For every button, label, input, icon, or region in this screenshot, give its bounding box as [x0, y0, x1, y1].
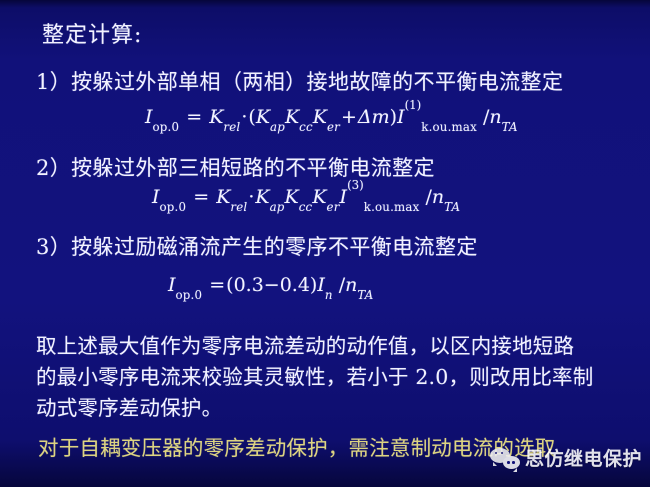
- formula-2-current: I: [340, 186, 348, 208]
- formula-1-ker-sub: er: [327, 120, 340, 134]
- watermark-text: 思仿继电保护: [525, 444, 642, 471]
- formula-1-kap-sub: ap: [270, 120, 285, 134]
- formula-2-current-sup: (3): [347, 178, 364, 192]
- formula-1-krel: K: [209, 106, 223, 128]
- formula-1-current-sup: (1): [405, 98, 422, 112]
- list-item-3-label: 3）按躲过励磁涌流产生的零序不平衡电流整定: [36, 231, 478, 261]
- formula-3-lhs-sub: op.0: [176, 288, 203, 302]
- formula-1-open-paren: (: [248, 106, 255, 128]
- highlight-note: 对于自耦变压器的零序差动保护，需注意制动电流的选取: [38, 431, 556, 461]
- formula-1-nta-sub: TA: [502, 120, 518, 134]
- formula-1-equals: =: [185, 106, 203, 128]
- list-item-1-label: 1）按躲过外部单相（两相）接地故障的不平衡电流整定: [36, 66, 563, 96]
- formula-1-plus: +: [340, 106, 358, 128]
- formula-1-kcc: K: [285, 106, 299, 128]
- formula-2-krel: K: [216, 186, 230, 208]
- formula-3-nta-sub: TA: [357, 288, 373, 302]
- wechat-logo-icon: [490, 446, 520, 470]
- formula-3-open-paren: (: [226, 274, 233, 296]
- formula-2-nta: n: [432, 186, 444, 208]
- formula-2-kcc: K: [285, 186, 299, 208]
- formula-3-range-low: 0.3: [234, 274, 264, 296]
- paragraph-line-3: 动式零序差动保护。: [36, 393, 622, 424]
- formula-3-lhs: I: [168, 274, 176, 296]
- watermark: 思仿继电保护: [490, 444, 642, 471]
- formula-1-close-paren: ): [390, 106, 397, 128]
- formula-2-krel-sub: rel: [230, 200, 247, 214]
- formula-2-equals: =: [192, 186, 210, 208]
- formula-2-lhs: I: [152, 186, 160, 208]
- formula-1-delta-m: Δm: [358, 106, 390, 128]
- formula-3-minus: −: [264, 274, 280, 296]
- paragraph-line-2: 的最小零序电流来校验其灵敏性，若小于 2.0，则改用比率制: [36, 362, 622, 393]
- formula-2-kap-sub: ap: [270, 200, 285, 214]
- formula-2-kcc-sub: cc: [299, 200, 313, 214]
- formula-1-lhs-sub: op.0: [153, 120, 180, 134]
- formula-2-ker: K: [312, 186, 326, 208]
- formula-3-nta: n: [345, 274, 357, 296]
- formula-1-kap: K: [256, 106, 270, 128]
- slide-canvas: 整定计算: 1）按躲过外部单相（两相）接地故障的不平衡电流整定 Iop.0 = …: [0, 0, 650, 487]
- formula-1: Iop.0 = Krel·(KapKccKer+Δm)I(1)k.ou.max …: [145, 106, 518, 128]
- formula-1-ker: K: [313, 106, 327, 128]
- formula-3-range-high: 0.4: [280, 274, 310, 296]
- formula-1-krel-sub: rel: [223, 120, 240, 134]
- formula-3-in-sub: n: [325, 288, 333, 302]
- paragraph-line-1: 取上述最大值作为零序电流差动的动作值，以区内接地短路: [36, 331, 622, 362]
- formula-2-current-sub: k.ou.max: [364, 200, 420, 214]
- formula-3: Iop.0 =(0.3−0.4)In /nTA: [168, 274, 373, 296]
- formula-3-equals: =: [208, 274, 226, 296]
- formula-2-ker-sub: er: [327, 200, 340, 214]
- list-item-2-label: 2）按躲过外部三相短路的不平衡电流整定: [36, 152, 435, 182]
- body-paragraph: 取上述最大值作为零序电流差动的动作值，以区内接地短路 的最小零序电流来校验其灵敏…: [36, 331, 622, 424]
- formula-1-current-sub: k.ou.max: [421, 120, 477, 134]
- formula-1-nta: n: [489, 106, 501, 128]
- page-title: 整定计算:: [42, 17, 142, 49]
- formula-2: Iop.0 = Krel·KapKccKerI(3)k.ou.max /nTA: [152, 186, 460, 208]
- formula-1-lhs: I: [145, 106, 153, 128]
- formula-2-lhs-sub: op.0: [160, 200, 187, 214]
- formula-3-in: I: [317, 274, 325, 296]
- formula-2-kap: K: [255, 186, 269, 208]
- formula-1-current: I: [397, 106, 405, 128]
- formula-2-nta-sub: TA: [444, 200, 460, 214]
- formula-1-kcc-sub: cc: [299, 120, 313, 134]
